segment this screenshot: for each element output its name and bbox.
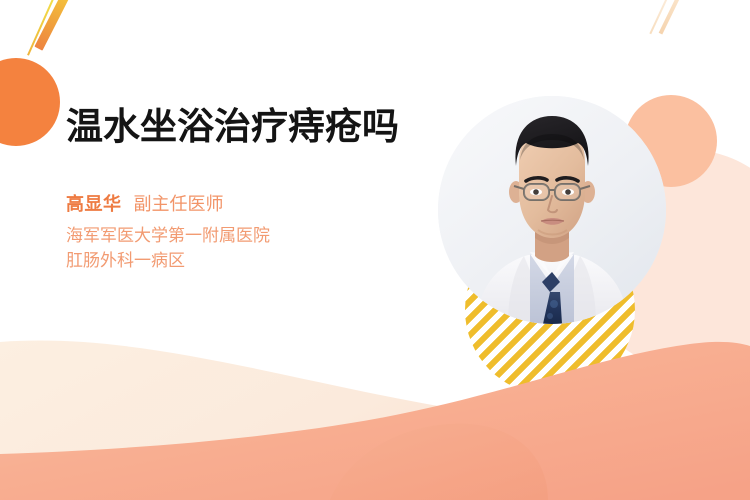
orange-circle-decor [0, 58, 60, 146]
avatar [438, 96, 666, 324]
doctor-hospital: 海军军医大学第一附属医院 [66, 223, 416, 248]
bottom-wave-decor [0, 300, 750, 500]
doctor-name: 高显华 [66, 194, 122, 214]
page-title: 温水坐浴治疗痔疮吗 [66, 104, 416, 149]
cover-text-block: 温水坐浴治疗痔疮吗 高显华副主任医师 海军军医大学第一附属医院 肛肠外科一病区 [66, 104, 416, 273]
doctor-credentials: 高显华副主任医师 海军军医大学第一附属医院 肛肠外科一病区 [66, 191, 416, 273]
doctor-video-cover: 温水坐浴治疗痔疮吗 高显华副主任医师 海军军医大学第一附属医院 肛肠外科一病区 [0, 0, 750, 500]
doctor-department: 肛肠外科一病区 [66, 248, 416, 273]
doctor-job-title: 副主任医师 [134, 194, 224, 214]
doctor-name-row: 高显华副主任医师 [66, 191, 416, 217]
doctor-portrait-image [438, 96, 666, 324]
